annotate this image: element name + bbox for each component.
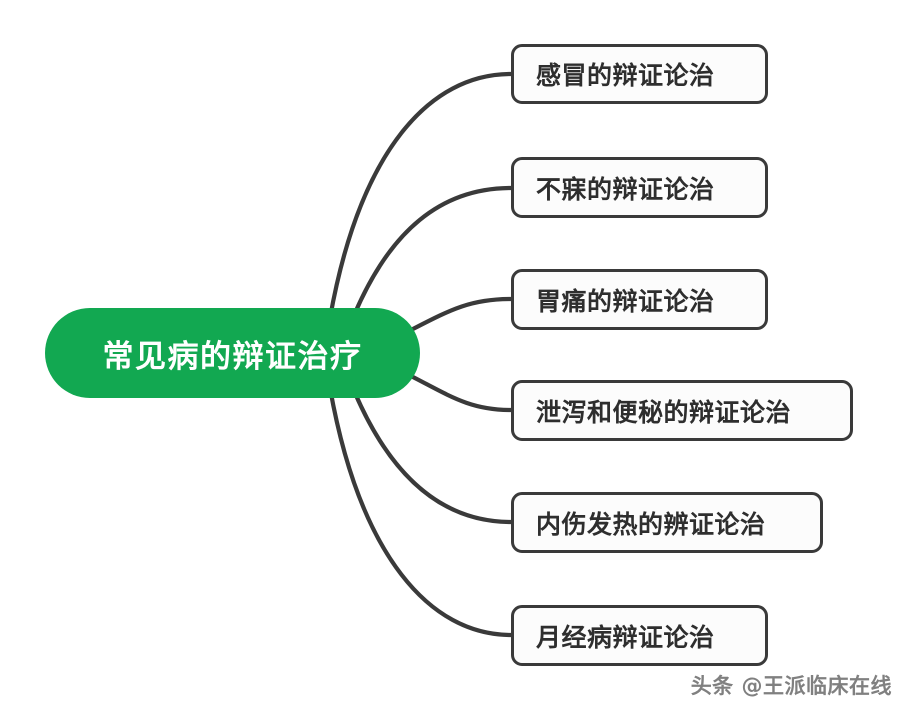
branch-node-6-label: 月经病辩证论治 xyxy=(514,618,715,654)
connector-to-branch-5 xyxy=(355,393,511,522)
root-node-label: 常见病的辩证治疗 xyxy=(103,331,363,376)
branch-node-4-label: 泄泻和便秘的辩证论治 xyxy=(514,393,791,429)
branch-node-6[interactable]: 月经病辩证论治 xyxy=(511,605,768,666)
branch-node-5-label: 内伤发热的辨证论治 xyxy=(514,505,766,541)
root-node[interactable]: 常见病的辩证治疗 xyxy=(45,308,420,398)
branch-node-1[interactable]: 感冒的辩证论治 xyxy=(511,44,768,104)
branch-node-1-label: 感冒的辩证论治 xyxy=(514,56,715,92)
connector-to-branch-3 xyxy=(411,299,511,330)
branch-node-4[interactable]: 泄泻和便秘的辩证论治 xyxy=(511,380,853,441)
connector-to-branch-2 xyxy=(355,188,511,313)
connector-to-branch-6 xyxy=(330,388,511,635)
watermark-text: 头条 @王派临床在线 xyxy=(691,670,892,700)
mindmap-canvas: 常见病的辩证治疗 感冒的辩证论治 不寐的辩证论治 胃痛的辩证论治 泄泻和便秘的辩… xyxy=(0,0,900,710)
branch-node-2[interactable]: 不寐的辩证论治 xyxy=(511,157,768,218)
branch-node-2-label: 不寐的辩证论治 xyxy=(514,170,715,206)
connector-to-branch-4 xyxy=(411,376,511,410)
branch-node-5[interactable]: 内伤发热的辨证论治 xyxy=(511,492,823,553)
branch-node-3[interactable]: 胃痛的辩证论治 xyxy=(511,269,768,330)
branch-node-3-label: 胃痛的辩证论治 xyxy=(514,282,715,318)
connector-to-branch-1 xyxy=(330,74,511,318)
